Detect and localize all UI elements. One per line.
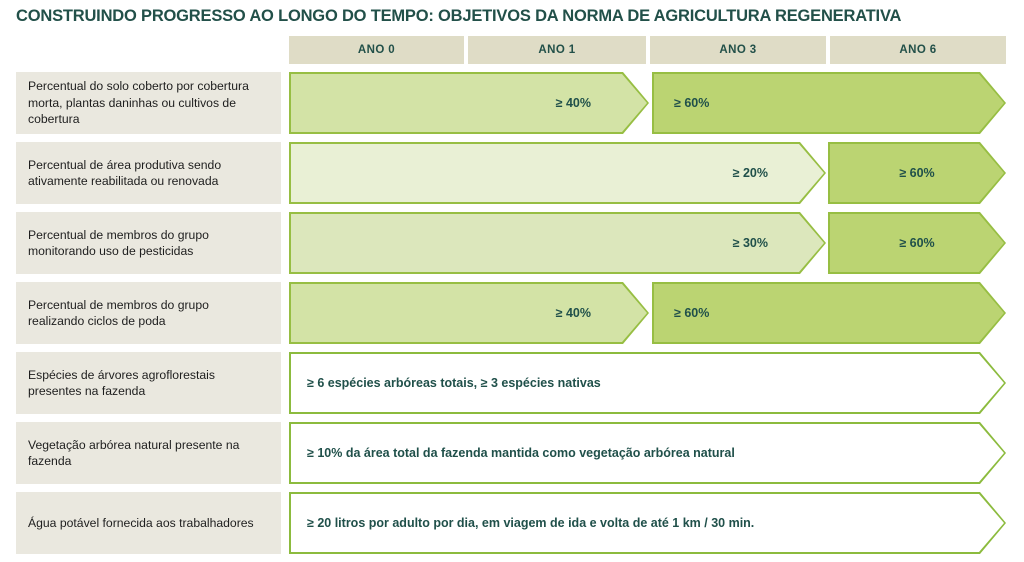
bar-value: ≥ 6 espécies arbóreas totais, ≥ 3 espéci… [307, 376, 601, 390]
row-label: Percentual do solo coberto por cobertura… [16, 72, 281, 134]
row-label: Espécies de árvores agroflorestais prese… [16, 352, 281, 414]
table-row: Espécies de árvores agroflorestais prese… [0, 352, 1024, 414]
row-label-text: Percentual de membros do grupo realizand… [28, 297, 267, 330]
table-row: Percentual de área produtiva sendo ativa… [0, 142, 1024, 204]
column-header-ano-0: ANO 0 [289, 36, 464, 64]
milestone-bar: ≥ 6 espécies arbóreas totais, ≥ 3 espéci… [289, 352, 1006, 414]
bar-value: ≥ 60% [674, 96, 709, 110]
milestone-bar: ≥ 20 litros por adulto por dia, em viage… [289, 492, 1006, 554]
milestone-bar: ≥ 20% [289, 142, 826, 204]
row-label-text: Percentual de membros do grupo monitoran… [28, 227, 267, 260]
bar-value: ≥ 30% [733, 236, 768, 250]
table-row: Percentual de membros do grupo monitoran… [0, 212, 1024, 274]
milestone-bar: ≥ 60% [828, 212, 1006, 274]
row-label: Vegetação arbórea natural presente na fa… [16, 422, 281, 484]
milestone-bar: ≥ 60% [652, 282, 1006, 344]
row-label: Percentual de membros do grupo monitoran… [16, 212, 281, 274]
bar-value: ≥ 60% [899, 236, 934, 250]
milestone-bar: ≥ 60% [652, 72, 1006, 134]
table-row: Percentual de membros do grupo realizand… [0, 282, 1024, 344]
column-header-ano-3: ANO 3 [650, 36, 826, 64]
bar-fill [291, 74, 647, 132]
row-label-text: Percentual de área produtiva sendo ativa… [28, 157, 267, 190]
milestone-bar: ≥ 40% [289, 72, 649, 134]
bar-value: ≥ 60% [899, 166, 934, 180]
column-header-ano-6: ANO 6 [830, 36, 1006, 64]
table-row: Água potável fornecida aos trabalhadores… [0, 492, 1024, 554]
milestone-bar: ≥ 40% [289, 282, 649, 344]
column-header-ano-1: ANO 1 [468, 36, 646, 64]
row-label-text: Espécies de árvores agroflorestais prese… [28, 367, 267, 400]
row-label-text: Vegetação arbórea natural presente na fa… [28, 437, 267, 470]
column-header-label: ANO 1 [538, 44, 575, 56]
milestone-bar: ≥ 30% [289, 212, 826, 274]
table-row: Vegetação arbórea natural presente na fa… [0, 422, 1024, 484]
row-label: Água potável fornecida aos trabalhadores [16, 492, 281, 554]
column-header-label: ANO 6 [899, 44, 936, 56]
bar-value: ≥ 40% [556, 306, 591, 320]
row-label-text: Percentual do solo coberto por cobertura… [28, 78, 267, 128]
bar-value: ≥ 60% [674, 306, 709, 320]
bar-value: ≥ 20% [733, 166, 768, 180]
table-row: Percentual do solo coberto por cobertura… [0, 72, 1024, 134]
bar-value: ≥ 40% [556, 96, 591, 110]
infographic-root: CONSTRUINDO PROGRESSO AO LONGO DO TEMPO:… [0, 0, 1024, 562]
bar-value: ≥ 20 litros por adulto por dia, em viage… [307, 516, 754, 530]
row-label: Percentual de membros do grupo realizand… [16, 282, 281, 344]
bar-value: ≥ 10% da área total da fazenda mantida c… [307, 446, 735, 460]
timeline-header: ANO 0 ANO 1 ANO 3 ANO 6 [289, 36, 1006, 64]
milestone-bar: ≥ 10% da área total da fazenda mantida c… [289, 422, 1006, 484]
milestone-bar: ≥ 60% [828, 142, 1006, 204]
column-header-label: ANO 3 [719, 44, 756, 56]
page-title: CONSTRUINDO PROGRESSO AO LONGO DO TEMPO:… [16, 7, 1006, 26]
row-label-text: Água potável fornecida aos trabalhadores [28, 515, 254, 532]
bar-fill [291, 284, 647, 342]
column-header-label: ANO 0 [358, 44, 395, 56]
row-label: Percentual de área produtiva sendo ativa… [16, 142, 281, 204]
